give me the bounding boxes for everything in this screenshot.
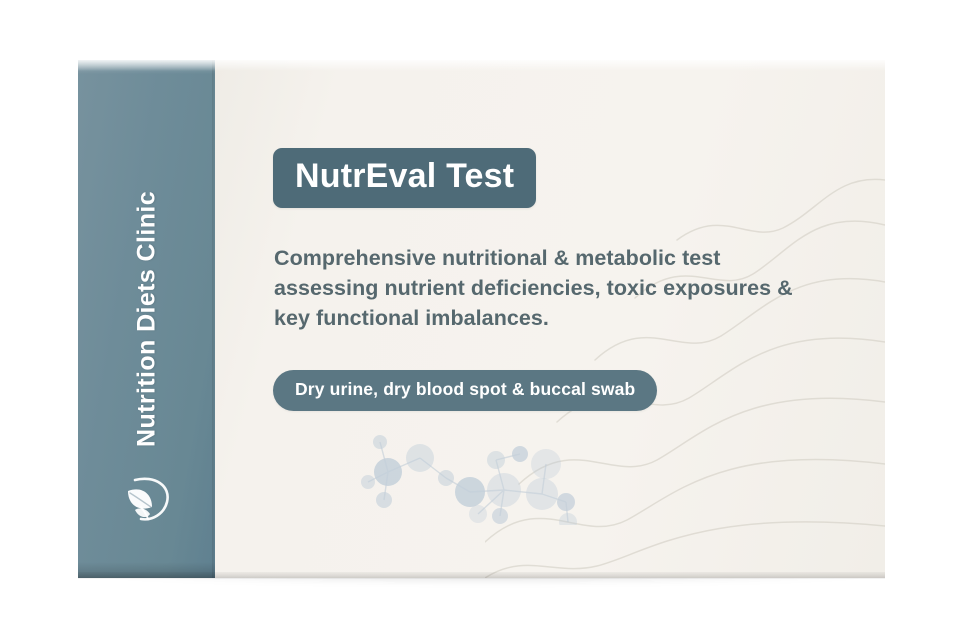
product-scene: Nutrition Diets Clinic [0, 0, 960, 640]
product-title-badge: NutrEval Test [273, 148, 536, 208]
box-front-face: NutrEval Test Comprehensive nutritional … [215, 60, 885, 578]
product-description: Comprehensive nutritional & metabolic te… [274, 243, 794, 333]
front-face-content: NutrEval Test Comprehensive nutritional … [273, 60, 845, 578]
product-box: Nutrition Diets Clinic [78, 60, 885, 578]
spine-top-highlight [78, 60, 215, 74]
leaf-sprout-icon [119, 474, 175, 526]
spine-bottom-shadow [78, 562, 215, 578]
sample-types-badge: Dry urine, dry blood spot & buccal swab [273, 370, 657, 411]
box-spine: Nutrition Diets Clinic [78, 60, 215, 578]
brand-name: Nutrition Diets Clinic [132, 191, 161, 447]
